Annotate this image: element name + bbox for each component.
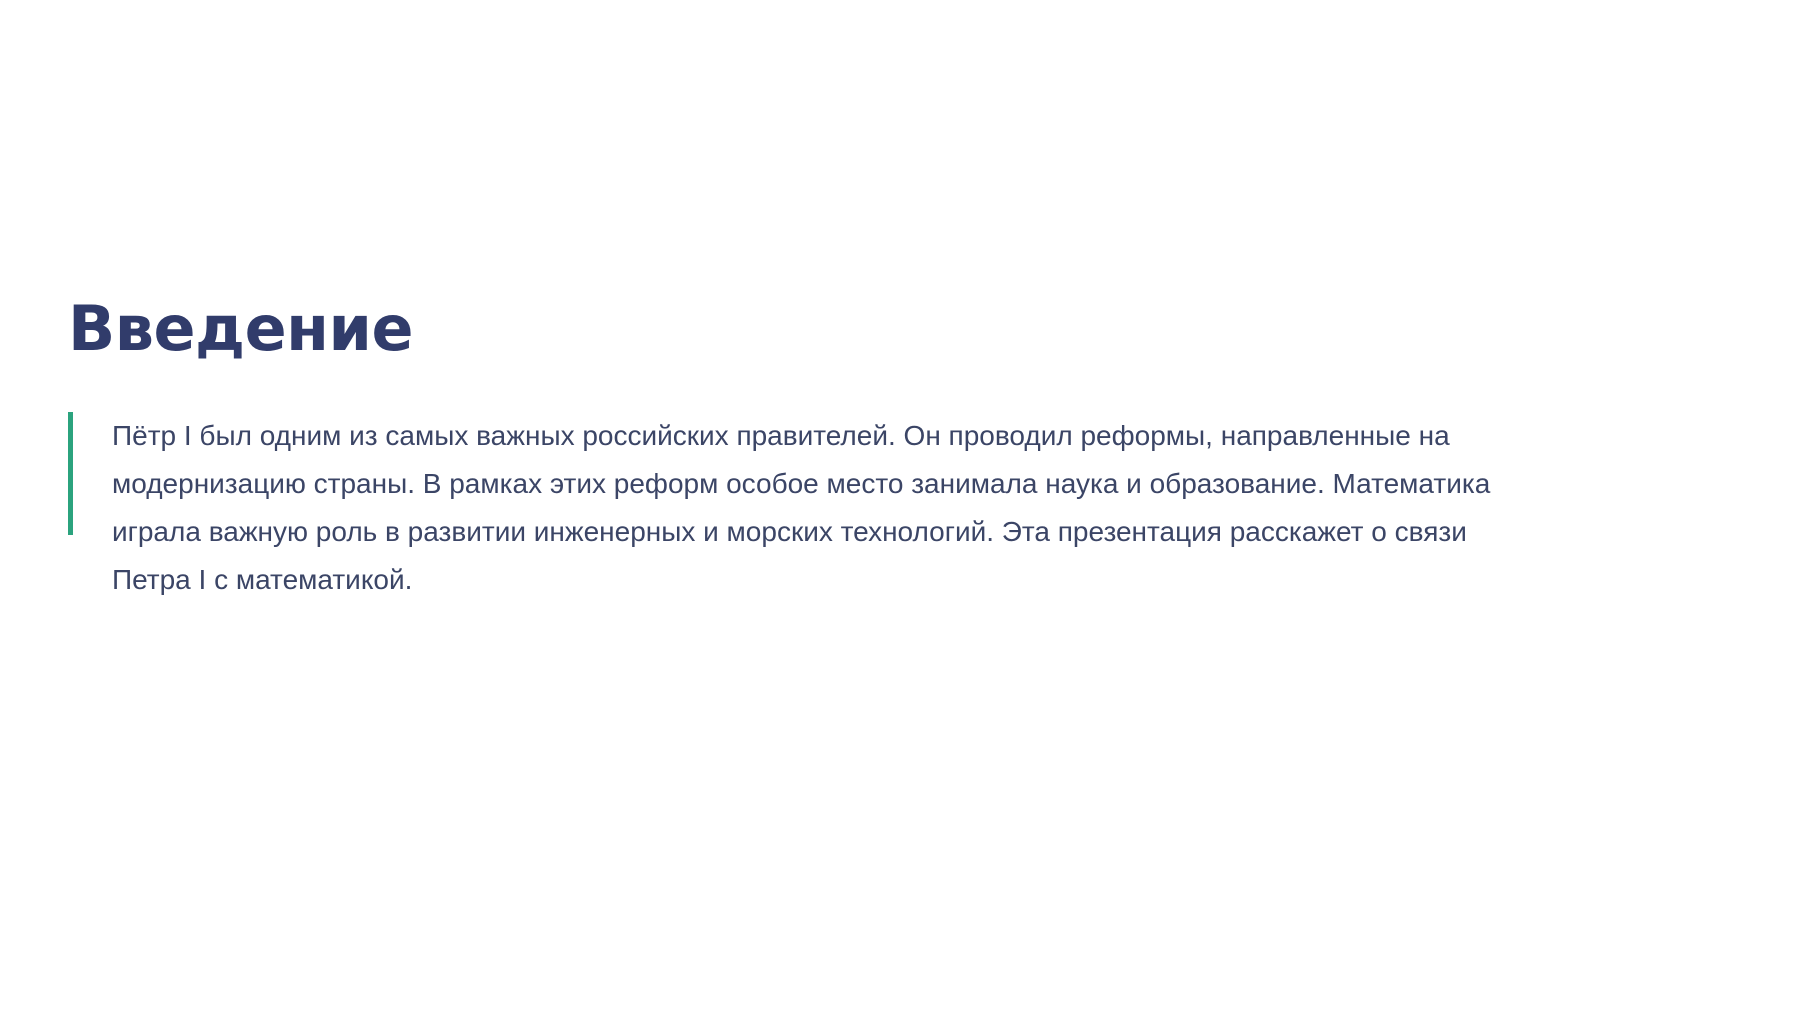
page-title: Введение: [68, 296, 1732, 361]
presentation-slide: Введение Пётр I был одним из самых важны…: [0, 0, 1800, 1013]
intro-paragraph: Пётр I был одним из самых важных российс…: [112, 412, 1532, 604]
intro-quote-block: Пётр I был одним из самых важных российс…: [68, 412, 1732, 604]
accent-bar: [68, 412, 73, 535]
slide-content: Введение Пётр I был одним из самых важны…: [68, 296, 1732, 604]
